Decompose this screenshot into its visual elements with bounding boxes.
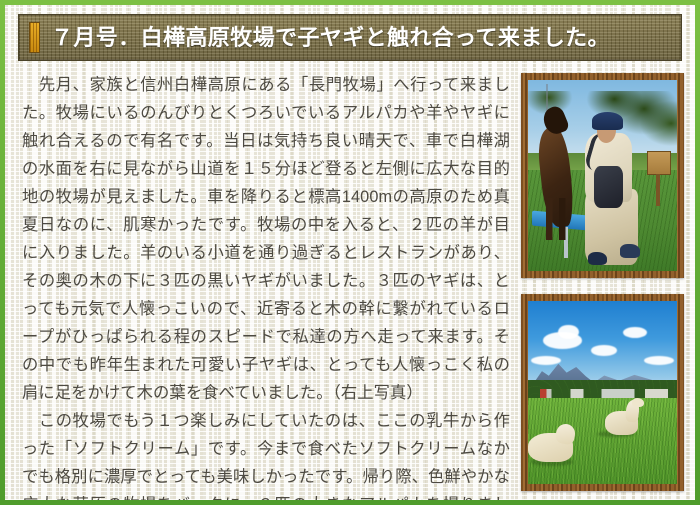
article-page: ７月号．白樺高原牧場で子ヤギと触れ合って来ました。 先月、家族と信州白樺高原にあ… xyxy=(0,0,700,505)
person-shoe-left-shape xyxy=(588,252,607,265)
person-cap-shape xyxy=(592,112,623,129)
person-shoe-right-shape xyxy=(620,244,639,257)
wooden-signboard-shape xyxy=(647,151,671,176)
cloud-shape xyxy=(644,356,674,365)
cloud-shape xyxy=(623,327,647,338)
cloud-shape xyxy=(558,325,579,340)
page-title: ７月号．白樺高原牧場で子ヤギと触れ合って来ました。 xyxy=(51,27,681,49)
alpaca-far-head-shape xyxy=(632,398,644,407)
paragraph-1: 先月、家族と信州白樺高原にある「長門牧場」へ行って来ました。牧場にいるのんびりと… xyxy=(22,71,510,407)
cloud-shape xyxy=(531,356,561,365)
paper-background: ７月号．白樺高原牧場で子ヤギと触れ合って来ました。 先月、家族と信州白樺高原にあ… xyxy=(5,5,695,500)
cloud-shape xyxy=(591,345,618,356)
goat-photo-scene xyxy=(528,80,677,271)
paragraph-2: この牧場でもう１つ楽しみにしていたのは、ここの乳牛から作った「ソフトクリーム」で… xyxy=(22,407,510,500)
alpacas-in-pasture-photo xyxy=(521,294,684,491)
article-body: 先月、家族と信州白樺高原にある「長門牧場」へ行って来ました。牧場にいるのんびりと… xyxy=(22,71,510,500)
alpaca-photo-scene xyxy=(528,301,677,484)
article-header-bar: ７月号．白樺高原牧場で子ヤギと触れ合って来ました。 xyxy=(18,14,682,61)
goat-on-bench-photo xyxy=(521,73,684,278)
goat-legs-shape xyxy=(546,198,567,240)
signboard-post-shape xyxy=(656,174,660,206)
camera-bag-shape xyxy=(594,166,624,208)
bookmark-marker-icon xyxy=(29,22,40,53)
